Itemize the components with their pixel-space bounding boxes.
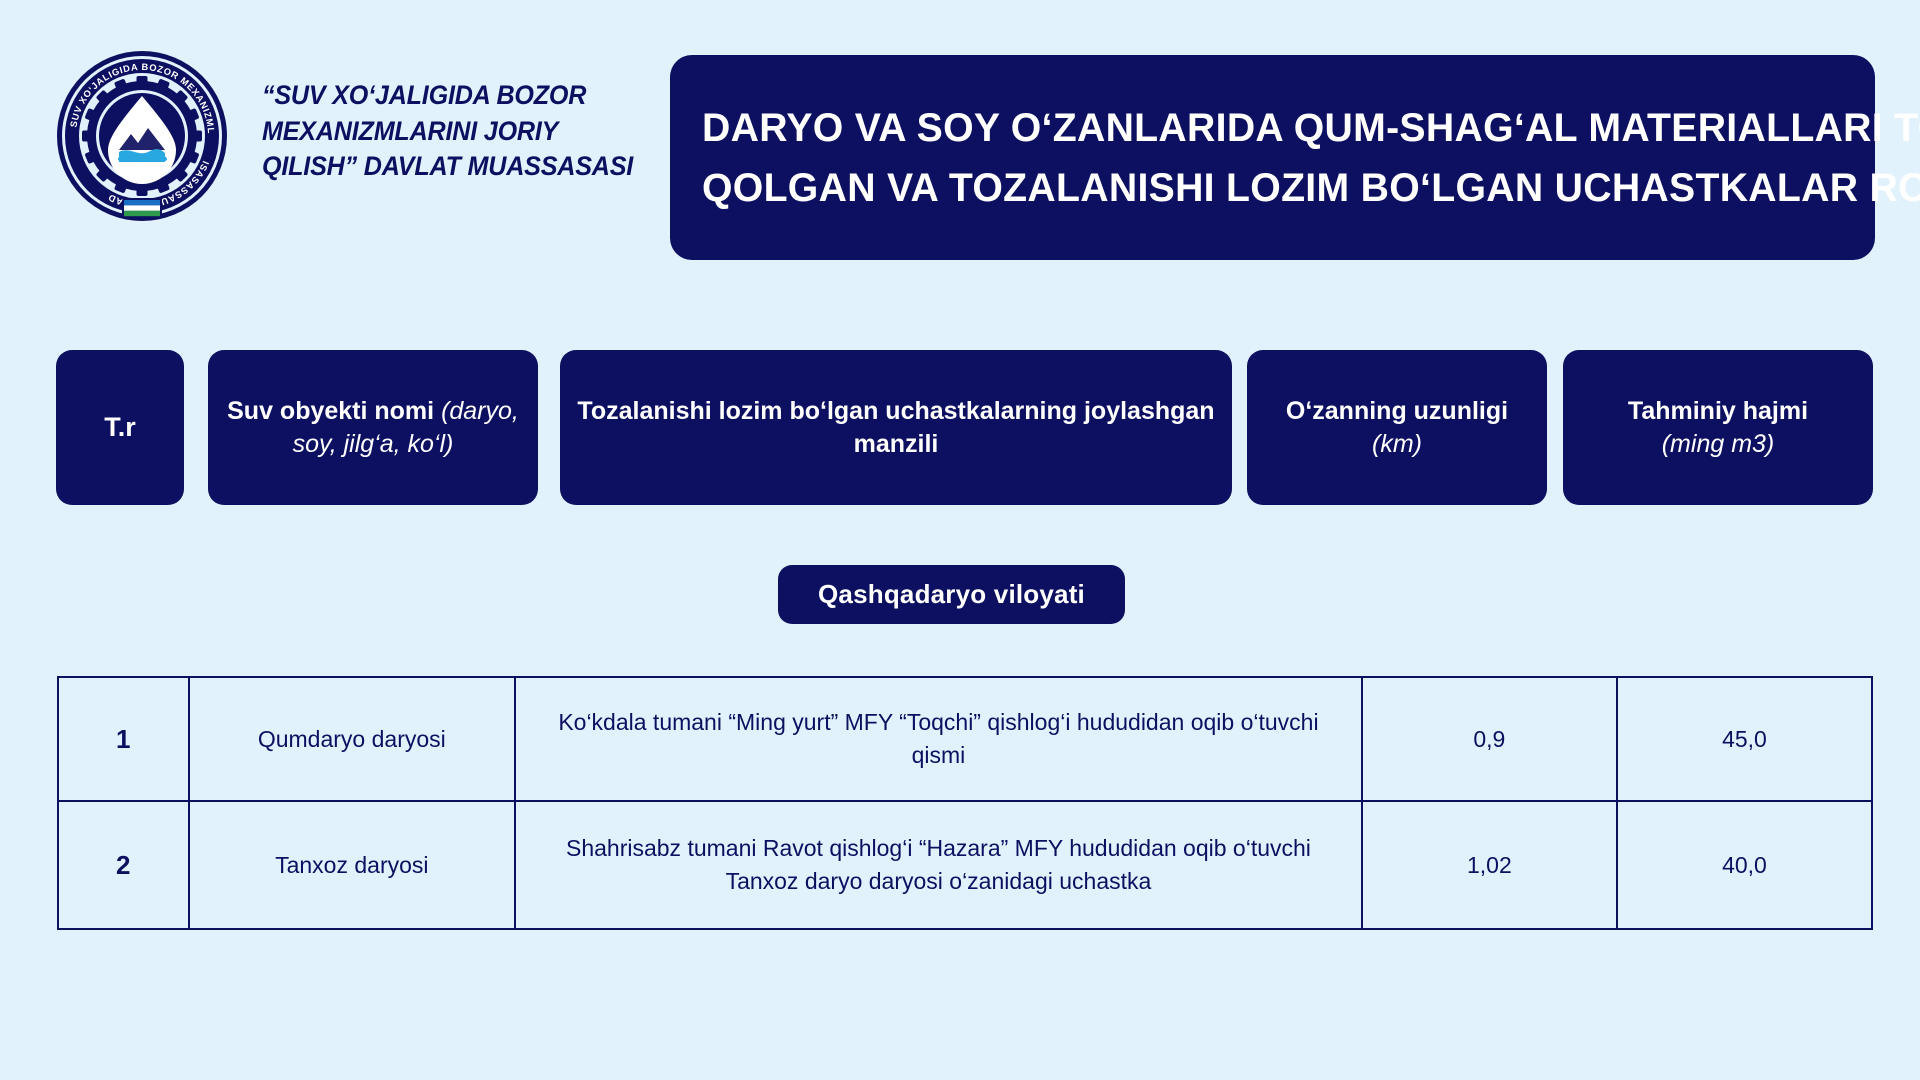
org-name-line-3: QILISH” DAVLAT MUASSASASI: [262, 149, 611, 185]
cell-number: 2: [58, 801, 189, 929]
title-line-1: DARYO VA SOY O‘ZANLARIDA QUM-SHAG‘AL MAT…: [702, 98, 1820, 158]
column-header-address: Tozalanishi lozim bo‘lgan uchastkalarnin…: [560, 350, 1232, 505]
column-headers: T.r Suv obyekti nomi (daryo, soy, jilg‘a…: [0, 350, 1920, 505]
page-header: SUV XO‘JALIGIDA BOZOR MEXANIZMLARINI JOR…: [0, 0, 1920, 262]
cell-volume: 40,0: [1617, 801, 1872, 929]
column-header-length: O‘zanning uzunligi(km): [1247, 350, 1547, 505]
org-name-line-1: “SUV XO‘JALIGIDA BOZOR: [262, 78, 611, 114]
cell-length: 0,9: [1362, 677, 1617, 801]
organization-name: “SUV XO‘JALIGIDA BOZOR MEXANIZMLARINI JO…: [262, 78, 611, 185]
poster-root: SUV XO‘JALIGIDA BOZOR MEXANIZMLARINI JOR…: [0, 0, 1920, 1080]
cell-number: 1: [58, 677, 189, 801]
column-header-address-label: Tozalanishi lozim bo‘lgan uchastkalarnin…: [577, 397, 1214, 458]
table-row: 1 Qumdaryo daryosi Ko‘kdala tumani “Ming…: [58, 677, 1872, 801]
column-header-volume-label: Tahminiy hajmi: [1628, 397, 1808, 425]
region-badge: Qashqadaryo viloyati: [778, 565, 1125, 624]
table-row: 2 Tanxoz daryosi Shahrisabz tumani Ravot…: [58, 801, 1872, 929]
column-header-length-label: O‘zanning uzunligi: [1286, 397, 1508, 425]
water-management-emblem-icon: SUV XO‘JALIGIDA BOZOR MEXANIZMLARINI JOR…: [56, 50, 228, 222]
cell-volume: 45,0: [1617, 677, 1872, 801]
column-header-volume: Tahminiy hajmi(ming m3): [1563, 350, 1873, 505]
column-header-volume-unit: (ming m3): [1662, 430, 1775, 458]
column-header-tr: T.r: [56, 350, 184, 505]
column-header-length-unit: (km): [1372, 430, 1422, 458]
org-name-line-2: MEXANIZMLARINI JORIY: [262, 114, 611, 150]
title-banner: DARYO VA SOY O‘ZANLARIDA QUM-SHAG‘AL MAT…: [670, 55, 1875, 260]
cell-address: Ko‘kdala tumani “Ming yurt” MFY “Toqchi”…: [515, 677, 1362, 801]
column-header-object: Suv obyekti nomi (daryo, soy, jilg‘a, ko…: [208, 350, 538, 505]
cell-object: Qumdaryo daryosi: [189, 677, 515, 801]
cell-address: Shahrisabz tumani Ravot qishlog‘i “Hazar…: [515, 801, 1362, 929]
cell-length: 1,02: [1362, 801, 1617, 929]
organization-logo: SUV XO‘JALIGIDA BOZOR MEXANIZMLARINI JOR…: [56, 50, 228, 222]
cell-object: Tanxoz daryosi: [189, 801, 515, 929]
sites-table: 1 Qumdaryo daryosi Ko‘kdala tumani “Ming…: [57, 676, 1873, 930]
title-line-2: QOLGAN VA TOZALANISHI LOZIM BO‘LGAN UCHA…: [702, 158, 1820, 218]
column-header-object-label: Suv obyekti nomi: [227, 397, 441, 425]
column-header-tr-label: T.r: [104, 412, 136, 442]
